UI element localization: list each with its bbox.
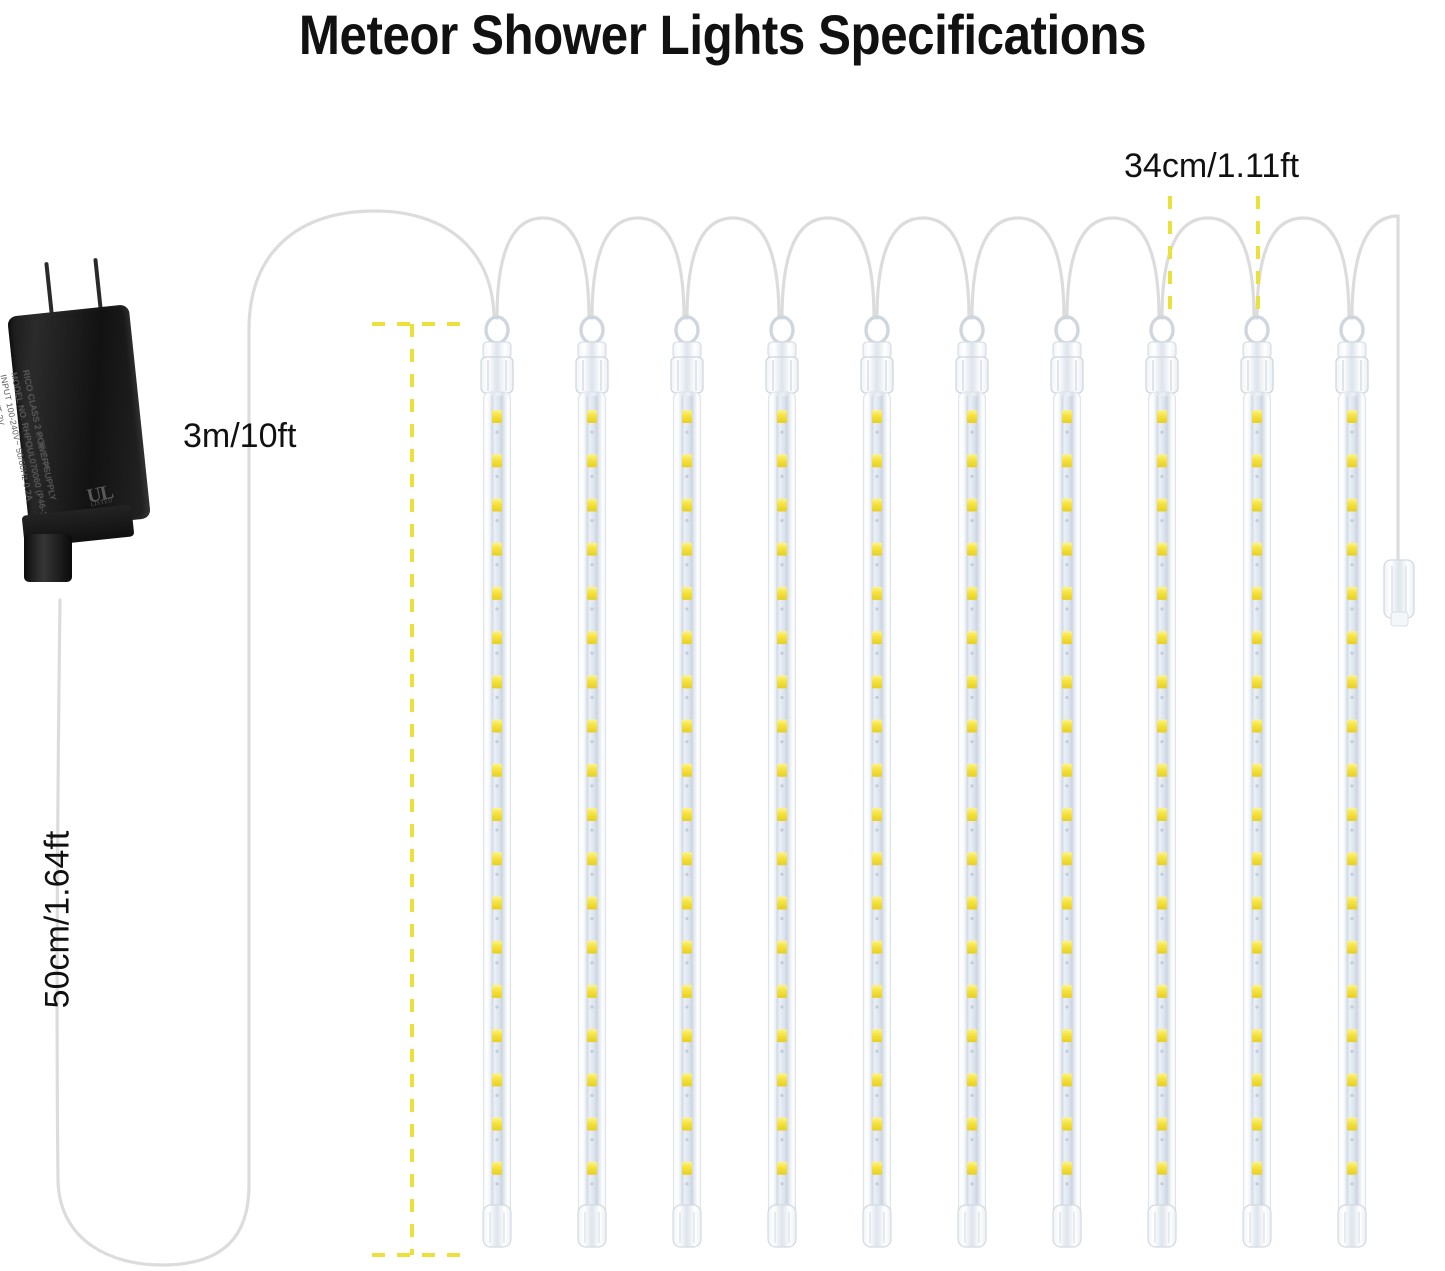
led-chip	[1157, 764, 1167, 777]
led-chip	[1252, 1118, 1262, 1131]
led-chip	[1157, 543, 1167, 556]
strip-solder-dot	[970, 917, 973, 920]
led-chip	[1252, 941, 1262, 954]
led-chip	[1157, 1118, 1167, 1131]
strip-solder-dot	[1350, 607, 1353, 610]
strip-solder-dot	[590, 961, 593, 964]
led-chip	[1347, 1073, 1357, 1086]
led-chip	[682, 1118, 692, 1131]
strip-solder-dot	[780, 829, 783, 832]
power-adapter: RICO CLASS 2 POWER SUPPLY MODEL NO. RHPO…	[10, 262, 160, 592]
strip-solder-dot	[875, 873, 878, 876]
led-chip	[682, 1162, 692, 1175]
strip-solder-dot	[1255, 1182, 1258, 1185]
led-chip	[1062, 1073, 1072, 1086]
led-chip	[492, 587, 502, 600]
led-chip	[1347, 1162, 1357, 1175]
strip-solder-dot	[1255, 740, 1258, 743]
strip-solder-dot	[685, 519, 688, 522]
led-chip	[777, 543, 787, 556]
strip-solder-dot	[590, 1005, 593, 1008]
led-chip	[1062, 985, 1072, 998]
strip-solder-dot	[875, 1182, 878, 1185]
strip-solder-dot	[970, 607, 973, 610]
led-chip	[492, 675, 502, 688]
led-chip	[587, 896, 597, 909]
strip-solder-dot	[875, 1138, 878, 1141]
led-chip	[1157, 852, 1167, 865]
strip-solder-dot	[1350, 1138, 1353, 1141]
led-chip	[492, 808, 502, 821]
strip-solder-dot	[780, 917, 783, 920]
led-chip	[967, 454, 977, 467]
led-chip	[492, 1118, 502, 1131]
led-chip	[1252, 498, 1262, 511]
strip-solder-dot	[1255, 1050, 1258, 1053]
led-chip	[872, 1073, 882, 1086]
led-chip	[587, 1073, 597, 1086]
strip-solder-dot	[495, 607, 498, 610]
strip-solder-dot	[970, 1005, 973, 1008]
strip-solder-dot	[495, 740, 498, 743]
led-chip	[587, 808, 597, 821]
strip-solder-dot	[1350, 1094, 1353, 1097]
strip-solder-dot	[970, 829, 973, 832]
led-chip	[492, 764, 502, 777]
led-chip	[492, 631, 502, 644]
led-chip	[777, 1073, 787, 1086]
strip-solder-dot	[590, 431, 593, 434]
led-chip	[872, 1029, 882, 1042]
led-chip	[682, 498, 692, 511]
strip-solder-dot	[1350, 1050, 1353, 1053]
led-chip	[777, 498, 787, 511]
led-chip	[682, 941, 692, 954]
led-chip	[777, 631, 787, 644]
led-chip	[777, 1029, 787, 1042]
led-chip	[967, 764, 977, 777]
led-chip	[1062, 498, 1072, 511]
strip-solder-dot	[1160, 1050, 1163, 1053]
strip-solder-dot	[685, 475, 688, 478]
led-chip	[1062, 1118, 1072, 1131]
end-connector	[1384, 560, 1414, 626]
led-chip	[967, 808, 977, 821]
strip-solder-dot	[1255, 1094, 1258, 1097]
led-chip	[682, 1029, 692, 1042]
strip-solder-dot	[970, 652, 973, 655]
strip-solder-dot	[495, 431, 498, 434]
strip-solder-dot	[495, 475, 498, 478]
led-chip	[1062, 631, 1072, 644]
strip-solder-dot	[590, 652, 593, 655]
strip-solder-dot	[590, 873, 593, 876]
strip-solder-dot	[780, 784, 783, 787]
strip-solder-dot	[1065, 784, 1068, 787]
led-chip	[1347, 498, 1357, 511]
strip-solder-dot	[1065, 1005, 1068, 1008]
strip-solder-dot	[685, 431, 688, 434]
led-chip	[1157, 631, 1167, 644]
strip-solder-dot	[685, 1182, 688, 1185]
led-chip	[967, 896, 977, 909]
led-chip	[492, 543, 502, 556]
strip-solder-dot	[970, 784, 973, 787]
led-chip	[1157, 587, 1167, 600]
strip-solder-dot	[875, 431, 878, 434]
strip-solder-dot	[875, 829, 878, 832]
strip-solder-dot	[1065, 1138, 1068, 1141]
led-chip	[967, 1029, 977, 1042]
led-chip	[872, 543, 882, 556]
strip-solder-dot	[1350, 873, 1353, 876]
strip-solder-dot	[685, 652, 688, 655]
strip-solder-dot	[495, 784, 498, 787]
led-chip	[872, 454, 882, 467]
strip-solder-dot	[1255, 917, 1258, 920]
lead-cord-label: 3m/10ft	[183, 417, 296, 456]
strip-solder-dot	[1160, 829, 1163, 832]
strip-solder-dot	[875, 563, 878, 566]
led-chip	[1157, 720, 1167, 733]
strip-solder-dot	[495, 696, 498, 699]
led-chip	[1157, 410, 1167, 423]
strip-solder-dot	[495, 519, 498, 522]
strip-solder-dot	[1065, 563, 1068, 566]
strip-solder-dot	[1160, 652, 1163, 655]
led-chip	[587, 675, 597, 688]
strip-solder-dot	[1350, 961, 1353, 964]
led-chip	[872, 498, 882, 511]
led-chip	[1157, 454, 1167, 467]
specification-diagram: Meteor Shower Lights Specifications	[0, 0, 1445, 1271]
strip-solder-dot	[970, 431, 973, 434]
strip-solder-dot	[1160, 740, 1163, 743]
strip-solder-dot	[495, 829, 498, 832]
led-chip	[1252, 720, 1262, 733]
led-chip	[1157, 985, 1167, 998]
led-chip	[682, 543, 692, 556]
strip-solder-dot	[495, 563, 498, 566]
strip-solder-dot	[1255, 696, 1258, 699]
strip-solder-dot	[685, 1050, 688, 1053]
led-chip	[1347, 808, 1357, 821]
strip-solder-dot	[1065, 873, 1068, 876]
strip-solder-dot	[1065, 829, 1068, 832]
strip-solder-dot	[590, 1182, 593, 1185]
led-chip	[587, 985, 597, 998]
strip-solder-dot	[685, 1138, 688, 1141]
led-chip	[1252, 896, 1262, 909]
strip-solder-dot	[1350, 652, 1353, 655]
strip-solder-dot	[1255, 563, 1258, 566]
strip-solder-dot	[780, 652, 783, 655]
led-chip	[587, 1162, 597, 1175]
led-chip	[777, 896, 787, 909]
strip-solder-dot	[875, 1005, 878, 1008]
led-chip	[1347, 985, 1357, 998]
strip-solder-dot	[875, 740, 878, 743]
led-chip	[1062, 808, 1072, 821]
led-chip	[872, 631, 882, 644]
led-chip	[682, 631, 692, 644]
strip-solder-dot	[1065, 431, 1068, 434]
strip-solder-dot	[1255, 475, 1258, 478]
led-chip	[967, 941, 977, 954]
strip-solder-dot	[495, 917, 498, 920]
led-chip	[1062, 1029, 1072, 1042]
led-chip	[1062, 720, 1072, 733]
strip-solder-dot	[1160, 961, 1163, 964]
led-chip	[967, 675, 977, 688]
led-chip	[872, 808, 882, 821]
strip-solder-dot	[970, 1182, 973, 1185]
strip-solder-dot	[780, 519, 783, 522]
led-tube-row	[481, 317, 1368, 1247]
led-chip	[967, 1073, 977, 1086]
strip-solder-dot	[495, 1182, 498, 1185]
led-chip	[682, 675, 692, 688]
led-chip	[1252, 1029, 1262, 1042]
strip-solder-dot	[1255, 519, 1258, 522]
led-chip	[1347, 410, 1357, 423]
led-chip	[1347, 852, 1357, 865]
adapter-output-barrel	[24, 534, 72, 582]
strip-solder-dot	[970, 1050, 973, 1053]
led-chip	[872, 1118, 882, 1131]
strip-solder-dot	[685, 1094, 688, 1097]
led-chip	[967, 1118, 977, 1131]
led-chip	[587, 941, 597, 954]
led-chip	[1347, 1029, 1357, 1042]
strip-solder-dot	[590, 1094, 593, 1097]
strip-solder-dot	[590, 607, 593, 610]
strip-solder-dot	[1350, 740, 1353, 743]
led-chip	[872, 410, 882, 423]
led-chip	[777, 675, 787, 688]
led-chip	[1347, 631, 1357, 644]
led-chip	[872, 852, 882, 865]
led-chip	[587, 1118, 597, 1131]
led-chip	[492, 1073, 502, 1086]
led-chip	[682, 454, 692, 467]
strip-solder-dot	[685, 829, 688, 832]
led-chip	[967, 985, 977, 998]
strip-solder-dot	[875, 519, 878, 522]
led-chip	[1347, 941, 1357, 954]
led-chip	[1157, 675, 1167, 688]
strip-solder-dot	[1160, 1138, 1163, 1141]
led-chip	[587, 1029, 597, 1042]
led-chip	[1062, 587, 1072, 600]
strip-solder-dot	[970, 696, 973, 699]
strip-solder-dot	[1065, 917, 1068, 920]
led-chip	[872, 985, 882, 998]
strip-solder-dot	[685, 696, 688, 699]
strip-solder-dot	[780, 873, 783, 876]
led-chip	[777, 985, 787, 998]
led-chip	[587, 587, 597, 600]
led-chip	[1252, 631, 1262, 644]
led-chip	[967, 410, 977, 423]
led-chip	[1157, 808, 1167, 821]
led-chip	[1062, 764, 1072, 777]
led-chip	[492, 720, 502, 733]
strip-solder-dot	[1255, 961, 1258, 964]
strip-solder-dot	[1160, 431, 1163, 434]
strip-solder-dot	[1160, 519, 1163, 522]
led-chip	[1157, 1029, 1167, 1042]
led-chip	[1062, 941, 1072, 954]
strip-solder-dot	[970, 961, 973, 964]
led-chip	[1347, 675, 1357, 688]
strip-solder-dot	[590, 475, 593, 478]
strip-solder-dot	[780, 607, 783, 610]
led-chip	[777, 764, 787, 777]
strip-solder-dot	[1255, 873, 1258, 876]
led-chip	[777, 720, 787, 733]
led-chip	[1062, 675, 1072, 688]
led-chip	[1347, 896, 1357, 909]
strip-solder-dot	[780, 1138, 783, 1141]
adapter-body: RICO CLASS 2 POWER SUPPLY MODEL NO. RHPO…	[7, 304, 151, 531]
led-chip	[1347, 454, 1357, 467]
led-chip	[1157, 941, 1167, 954]
led-chip	[682, 1073, 692, 1086]
led-chip	[967, 498, 977, 511]
strip-solder-dot	[780, 1005, 783, 1008]
led-chip	[872, 941, 882, 954]
led-chip	[777, 1162, 787, 1175]
led-chip	[1252, 587, 1262, 600]
strip-solder-dot	[1255, 1138, 1258, 1141]
strip-solder-dot	[1065, 696, 1068, 699]
led-chip	[967, 587, 977, 600]
led-chip	[777, 852, 787, 865]
strip-solder-dot	[495, 1050, 498, 1053]
strip-solder-dot	[590, 740, 593, 743]
strip-solder-dot	[1350, 917, 1353, 920]
led-chip	[1062, 454, 1072, 467]
led-chip	[492, 1029, 502, 1042]
strip-solder-dot	[1160, 784, 1163, 787]
strip-solder-dot	[1350, 519, 1353, 522]
strip-solder-dot	[780, 1182, 783, 1185]
strip-solder-dot	[1255, 829, 1258, 832]
strip-solder-dot	[685, 1005, 688, 1008]
strip-solder-dot	[1065, 519, 1068, 522]
led-chip	[967, 1162, 977, 1175]
led-chip	[872, 675, 882, 688]
led-chip	[492, 985, 502, 998]
strip-solder-dot	[1160, 1182, 1163, 1185]
strip-solder-dot	[875, 784, 878, 787]
adapter-prong-right	[93, 258, 102, 310]
led-chip	[777, 587, 787, 600]
strip-solder-dot	[1350, 475, 1353, 478]
led-chip	[1347, 720, 1357, 733]
strip-solder-dot	[1350, 1005, 1353, 1008]
led-chip	[492, 896, 502, 909]
led-chip	[1252, 675, 1262, 688]
strip-solder-dot	[1160, 475, 1163, 478]
strip-solder-dot	[590, 1050, 593, 1053]
led-chip	[1347, 764, 1357, 777]
strip-solder-dot	[1160, 696, 1163, 699]
strip-solder-dot	[495, 873, 498, 876]
led-chip	[682, 985, 692, 998]
product-illustration	[0, 0, 1445, 1271]
led-chip	[1252, 985, 1262, 998]
strip-solder-dot	[590, 829, 593, 832]
led-chip	[1252, 410, 1262, 423]
strip-solder-dot	[780, 1050, 783, 1053]
strip-solder-dot	[685, 607, 688, 610]
led-chip	[967, 720, 977, 733]
strip-solder-dot	[780, 431, 783, 434]
strip-solder-dot	[780, 563, 783, 566]
strip-solder-dot	[495, 1138, 498, 1141]
led-chip	[872, 896, 882, 909]
strip-solder-dot	[590, 1138, 593, 1141]
led-chip	[1252, 543, 1262, 556]
led-chip	[1252, 852, 1262, 865]
strip-solder-dot	[780, 740, 783, 743]
led-chip	[682, 587, 692, 600]
led-chip	[1157, 1162, 1167, 1175]
led-chip	[492, 852, 502, 865]
led-chip	[587, 720, 597, 733]
strip-solder-dot	[780, 961, 783, 964]
led-chip	[492, 498, 502, 511]
tube-spacing-label: 34cm/1.11ft	[1124, 147, 1299, 186]
led-chip	[492, 410, 502, 423]
led-chip	[587, 631, 597, 644]
strip-solder-dot	[1350, 829, 1353, 832]
led-chip	[777, 454, 787, 467]
led-chip	[492, 941, 502, 954]
led-chip	[1252, 808, 1262, 821]
strip-solder-dot	[1350, 1182, 1353, 1185]
strip-solder-dot	[1350, 696, 1353, 699]
strip-solder-dot	[875, 1050, 878, 1053]
led-chip	[777, 808, 787, 821]
strip-solder-dot	[1065, 652, 1068, 655]
led-chip	[967, 543, 977, 556]
strip-solder-dot	[590, 519, 593, 522]
strip-solder-dot	[780, 696, 783, 699]
strip-solder-dot	[685, 961, 688, 964]
strip-solder-dot	[1255, 431, 1258, 434]
strip-solder-dot	[1255, 1005, 1258, 1008]
strip-solder-dot	[970, 1094, 973, 1097]
led-chip	[777, 941, 787, 954]
strip-solder-dot	[685, 563, 688, 566]
strip-solder-dot	[970, 519, 973, 522]
adapter-prong-left	[44, 262, 53, 314]
led-chip	[1347, 543, 1357, 556]
strip-solder-dot	[1065, 740, 1068, 743]
strip-solder-dot	[495, 961, 498, 964]
strip-solder-dot	[875, 917, 878, 920]
strip-solder-dot	[1350, 563, 1353, 566]
strip-solder-dot	[495, 652, 498, 655]
strip-solder-dot	[875, 607, 878, 610]
strip-solder-dot	[1065, 1182, 1068, 1185]
strip-solder-dot	[590, 563, 593, 566]
led-chip	[682, 896, 692, 909]
strip-solder-dot	[1160, 563, 1163, 566]
